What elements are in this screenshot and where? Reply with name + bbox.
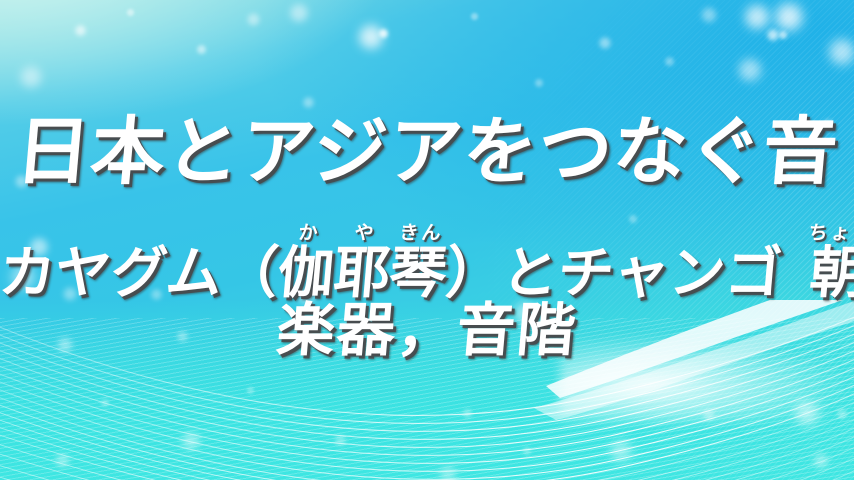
subtitle-instrument-kana: カヤグム	[0, 241, 225, 306]
subtitle-region-ruby: 朝ちょう鮮せん	[802, 241, 854, 306]
subtitle-drum-kana: チャンゴ	[555, 241, 784, 306]
title-line-primary: 日本とアジアをつなぐ音	[0, 112, 854, 192]
subtitle-open-paren: （	[219, 241, 281, 306]
title-line-keywords: 楽器，音階	[0, 298, 854, 362]
ruby-kin: きん	[393, 222, 451, 244]
title-card: 日本とアジアをつなぐ音 カヤグム（伽か耶や琴きん）とチャンゴ朝ちょう鮮せん半島 …	[0, 0, 854, 480]
subtitle-line: カヤグム（伽か耶や琴きん）とチャンゴ朝ちょう鮮せん半島	[0, 222, 854, 304]
ruby-ka: か	[281, 222, 339, 244]
title-text-block: 日本とアジアをつなぐ音 カヤグム（伽か耶や琴きん）とチャンゴ朝ちょう鮮せん半島 …	[0, 0, 854, 480]
ruby-chou: ちょう	[808, 222, 854, 244]
ruby-ya: や	[337, 222, 395, 244]
kanji-chou: 朝	[802, 241, 854, 306]
